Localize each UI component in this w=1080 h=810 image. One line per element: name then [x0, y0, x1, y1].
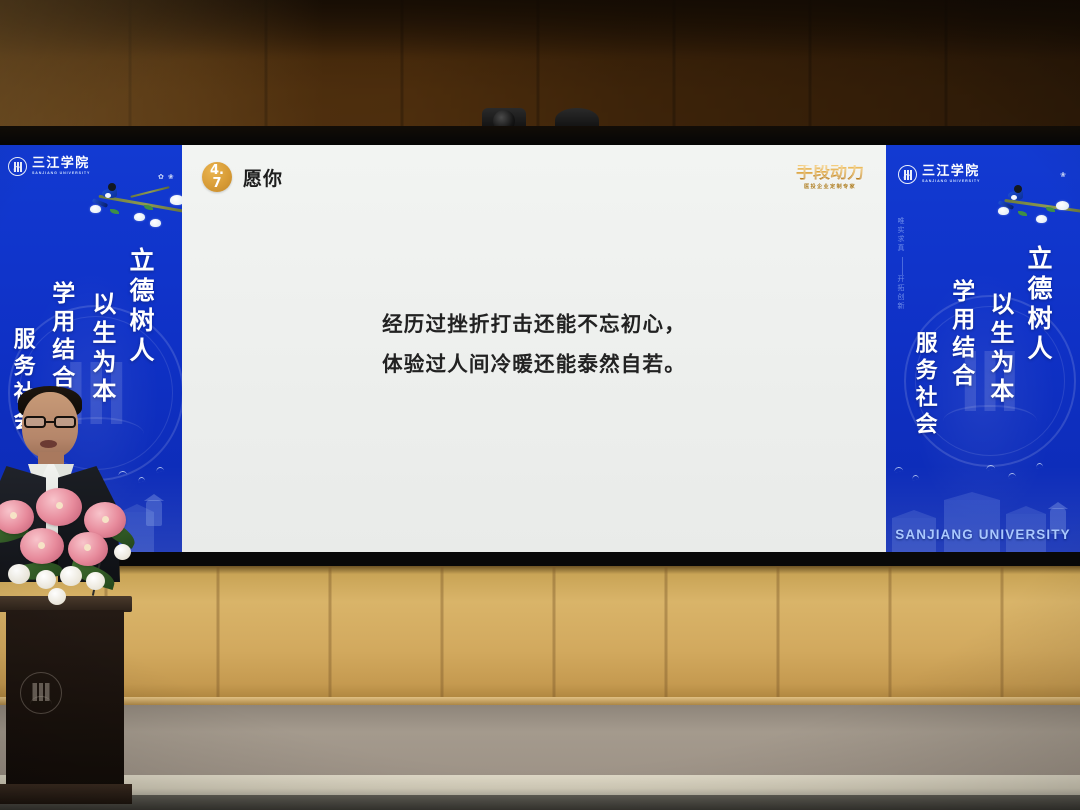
- calligraphy-column-4: 服务社会: [912, 331, 937, 439]
- magpie-belly: [1011, 195, 1017, 200]
- pink-lily: [0, 500, 34, 534]
- magpie-belly: [105, 193, 111, 198]
- campus-skyline-right: SANJIANG UNIVERSITY: [886, 466, 1080, 552]
- magnolia-blossom: [998, 207, 1009, 215]
- lily-center: [10, 512, 17, 519]
- calligraphy-column-1: 立德树人: [1024, 245, 1052, 365]
- lily-center: [102, 516, 109, 523]
- sponsor-logo-name: 手段动力: [796, 165, 864, 182]
- petal-sparkle: ❀: [1060, 171, 1067, 179]
- university-name-en: SANJIANG UNIVERSITY: [922, 180, 980, 184]
- branch-leaf: [110, 209, 119, 214]
- stage-front-edge: [0, 775, 1080, 810]
- eyeglasses-bridge: [44, 421, 54, 423]
- university-footer-en: SANJIANG UNIVERSITY: [886, 527, 1080, 542]
- sponsor-logo: 手段动力 医投企业定制专家: [796, 165, 864, 190]
- white-flower: [86, 572, 105, 590]
- university-name-block: 三江学院 SANJIANG UNIVERSITY: [922, 165, 980, 184]
- calligraphy-column-3: 学用结合: [48, 281, 74, 393]
- branch-leaf: [1046, 207, 1055, 212]
- magnolia-branch-artwork-left: ✿ ❀: [78, 157, 182, 247]
- small-motto-2: 开拓创新: [896, 275, 906, 311]
- university-logo-right: 三江学院 SANJIANG UNIVERSITY: [898, 165, 980, 184]
- seal-watermark-wave: [943, 405, 1037, 422]
- university-seal-icon: [898, 165, 917, 184]
- stage-floor: [0, 705, 1080, 783]
- small-motto-1: 唯实求真: [896, 217, 906, 253]
- calligraphy-column-2: 以生为本: [986, 291, 1013, 407]
- white-flower: [48, 588, 66, 605]
- slide-line-1: 经历过挫折打击还能不忘初心，: [182, 305, 886, 345]
- motto-divider: [902, 257, 903, 275]
- calligraphy-column-1: 立德树人: [126, 247, 154, 367]
- presentation-slide: 4. 7 愿你 手段动力 医投企业定制专家 经历过挫折打击还能不忘初心， 体验过…: [182, 145, 886, 552]
- magnolia-blossom: [150, 219, 161, 227]
- slide-body: 经历过挫折打击还能不忘初心， 体验过人间冷暖还能泰然自若。: [182, 305, 886, 385]
- lily-center: [56, 502, 63, 509]
- magnolia-blossom: [90, 205, 101, 213]
- magnolia-blossom: [1056, 201, 1069, 210]
- bezel-top-shadow: [0, 126, 1080, 146]
- branch-leaf: [144, 205, 153, 210]
- eyeglasses-icon: [54, 416, 76, 428]
- wall-light-gradient: [0, 0, 1080, 132]
- podium: [0, 596, 132, 810]
- podium-university-emblem: [20, 672, 62, 714]
- magnolia-blossom: [134, 213, 145, 221]
- white-flower: [36, 570, 56, 589]
- magpie-head: [1014, 185, 1022, 193]
- lily-center: [84, 544, 91, 551]
- university-seal-icon: [8, 157, 27, 176]
- campus-building: [944, 500, 1000, 552]
- sponsor-logo-tagline: 医投企业定制专家: [796, 185, 864, 190]
- lily-center: [38, 542, 45, 549]
- right-blue-panel: 三江学院 SANJIANG UNIVERSITY ❀ 唯实求真 开拓创新: [886, 145, 1080, 552]
- magnolia-blossom: [1036, 215, 1047, 223]
- magnolia-blossom: [170, 195, 182, 205]
- white-flower: [8, 564, 30, 584]
- university-name-cn: 三江学院: [922, 165, 980, 178]
- branch-leaf: [1018, 211, 1027, 216]
- calligraphy-column-3: 学用结合: [948, 279, 974, 391]
- slide-header: 4. 7 愿你: [202, 162, 283, 192]
- petal-sparkle: ✿ ❀: [158, 173, 175, 181]
- lower-wood-wall: [0, 566, 1080, 703]
- screenshot-root: 三江学院 SANJIANG UNIVERSITY ✿ ❀: [0, 0, 1080, 810]
- slide-number-badge: 4. 7: [202, 162, 232, 192]
- eyeglasses-icon: [24, 416, 46, 428]
- speaker-mouth: [40, 440, 57, 448]
- slide-line-2: 体验过人间冷暖还能泰然自若。: [182, 345, 886, 385]
- magnolia-branch-artwork-right: ❀: [990, 161, 1080, 247]
- podium-base: [0, 784, 132, 804]
- flower-bouquet: [0, 466, 154, 616]
- slide-title: 愿你: [243, 164, 283, 191]
- branch-twig: [130, 186, 169, 198]
- white-flower: [114, 544, 131, 560]
- badge-number-bottom: 7: [212, 177, 221, 190]
- white-flower: [60, 566, 82, 586]
- magpie-head: [108, 183, 116, 191]
